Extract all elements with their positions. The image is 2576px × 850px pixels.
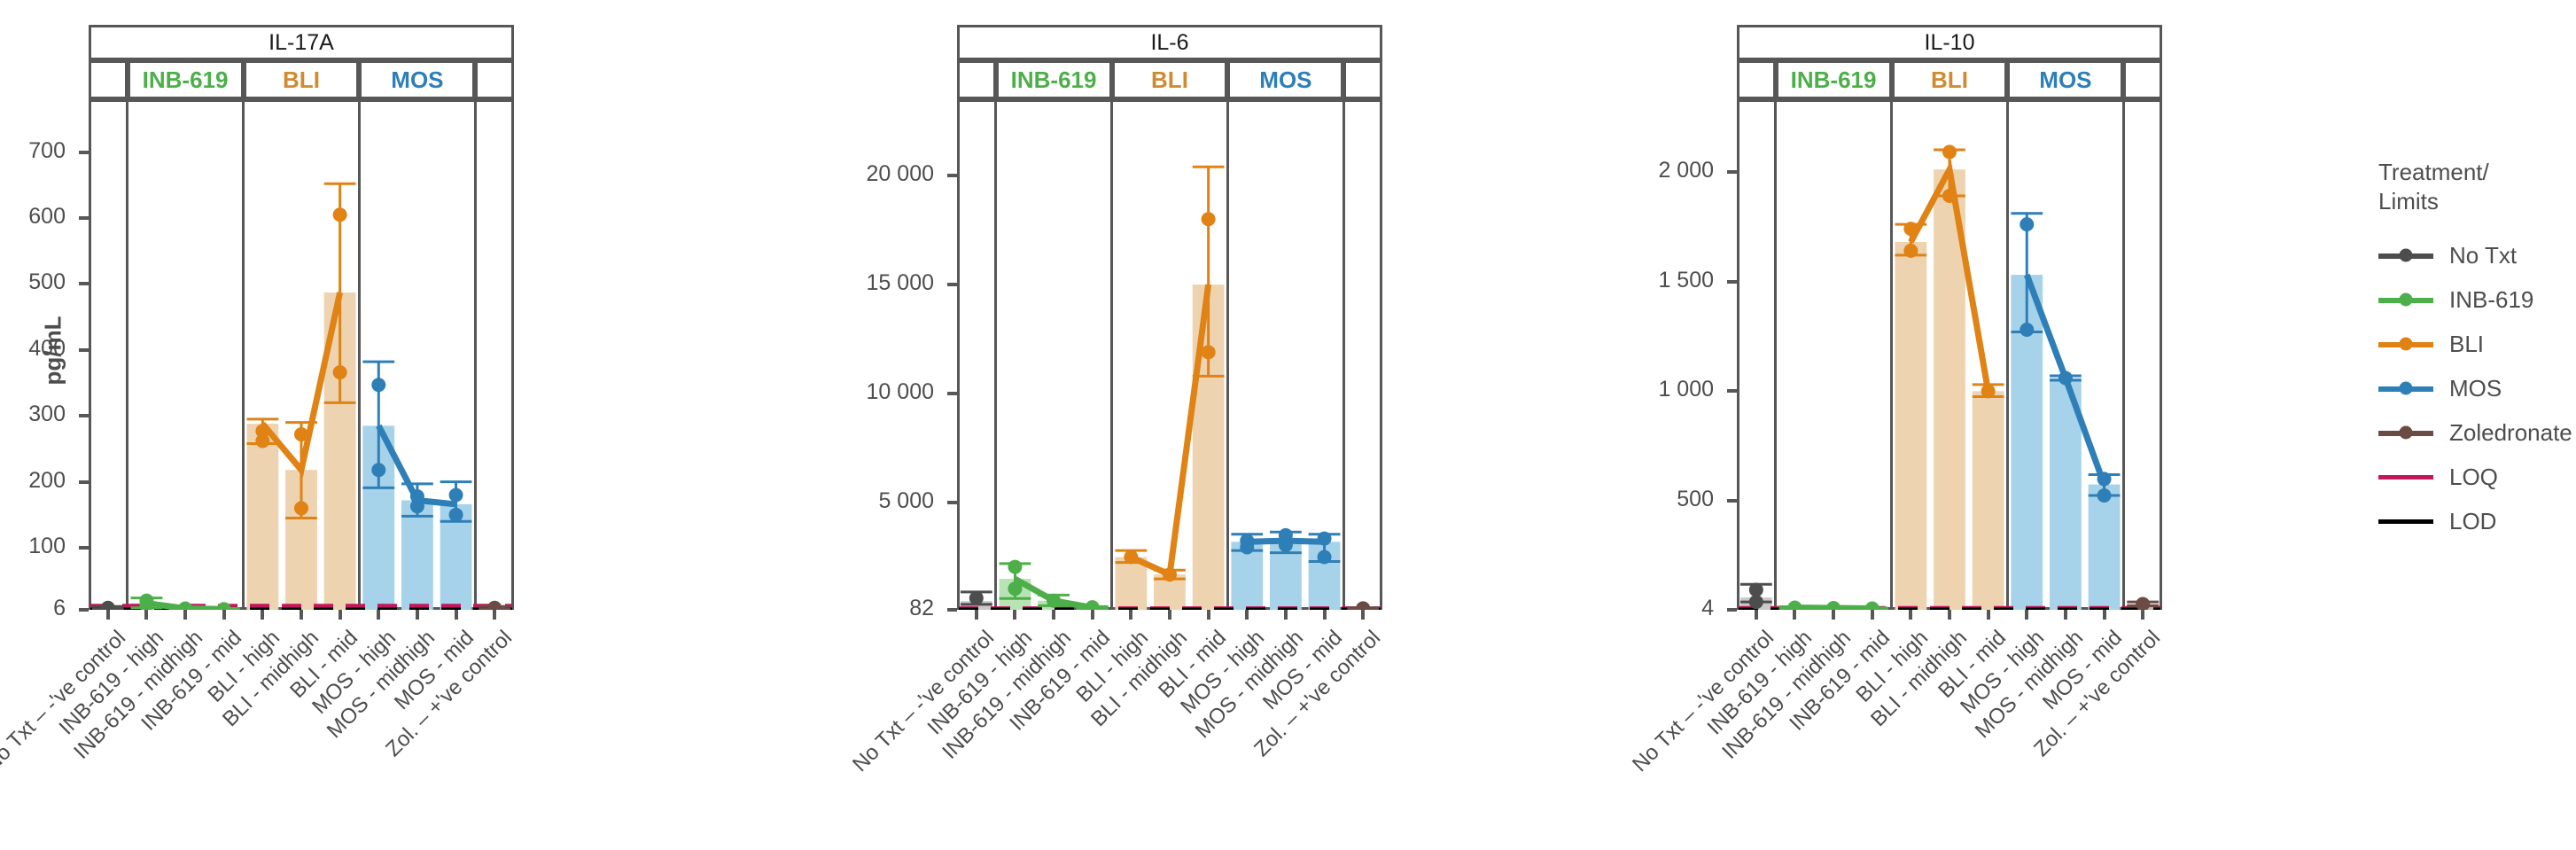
data-point	[1356, 601, 1370, 610]
legend-item-loq[interactable]: LOQ	[2378, 455, 2572, 499]
group-strip-blank	[475, 60, 514, 99]
legend-point-swatch	[2400, 338, 2413, 351]
legend-key-icon	[2378, 279, 2433, 320]
y-tick-label: 1 500	[1519, 268, 1714, 293]
y-tick-mark	[1727, 608, 1737, 612]
data-point	[333, 365, 347, 379]
x-tick-mark	[2141, 610, 2144, 620]
data-point	[1202, 212, 1216, 226]
legend-item-label: LOD	[2449, 508, 2496, 535]
group-strip-blank	[1737, 60, 1776, 99]
legend-point-swatch	[2400, 249, 2413, 262]
x-tick-mark	[1323, 610, 1327, 620]
data-point	[1749, 595, 1763, 609]
data-point	[2097, 472, 2112, 486]
x-tick-mark	[1207, 610, 1210, 620]
group-strip-label: INB-619	[1791, 66, 1877, 94]
group-strip-label: MOS	[391, 66, 443, 94]
x-tick-mark	[416, 610, 419, 620]
data-point	[1047, 594, 1061, 608]
y-tick-mark	[79, 151, 89, 154]
legend-point-swatch	[2400, 293, 2413, 307]
y-tick-label: 600	[0, 204, 66, 230]
y-tick-label: 1 000	[1519, 377, 1714, 402]
group-strip-label: INB-619	[143, 66, 229, 94]
group-strip-mos: MOS	[1227, 60, 1343, 99]
group-strip-inb-619: INB-619	[996, 60, 1112, 99]
y-tick-mark	[79, 414, 89, 417]
legend-key-icon	[2378, 368, 2433, 409]
panel-title-strip: IL-10	[1737, 25, 2162, 60]
data-point	[1202, 345, 1216, 359]
bar	[2089, 485, 2121, 610]
panel-title-strip: IL-6	[957, 25, 1382, 60]
x-tick-mark	[493, 610, 496, 620]
data-point	[1787, 601, 1802, 610]
x-tick-mark	[1091, 610, 1094, 620]
plot-graphics	[1737, 99, 2162, 610]
y-tick-label: 6	[0, 596, 66, 621]
x-tick-mark	[1948, 610, 1951, 620]
bar	[246, 424, 278, 610]
data-point	[449, 508, 463, 522]
y-tick-label: 4	[1519, 596, 1714, 621]
legend-key-icon	[2378, 235, 2433, 276]
group-strip-label: MOS	[1259, 66, 1311, 94]
data-point	[1318, 550, 1332, 565]
legend-key-icon	[2378, 412, 2433, 453]
panel-title: IL-6	[1150, 30, 1188, 56]
y-tick-mark	[947, 392, 957, 395]
legend-key-icon	[2378, 456, 2433, 497]
group-strip-blank	[1343, 60, 1382, 99]
x-tick-mark	[106, 610, 110, 620]
data-point	[178, 602, 192, 610]
data-point	[1008, 581, 1022, 596]
y-tick-label: 2 000	[1519, 158, 1714, 183]
y-tick-label: 15 000	[739, 270, 934, 296]
x-tick-mark	[339, 610, 342, 620]
x-tick-mark	[1871, 610, 1874, 620]
y-tick-mark	[79, 608, 89, 612]
y-tick-label: 500	[1519, 487, 1714, 512]
x-tick-mark	[183, 610, 187, 620]
data-point	[1981, 384, 1996, 398]
y-tick-mark	[79, 216, 89, 220]
x-tick-mark	[1013, 610, 1016, 620]
y-tick-label: 82	[739, 596, 934, 621]
y-tick-mark	[1727, 170, 1737, 174]
data-point	[2136, 597, 2150, 610]
data-point	[1749, 582, 1763, 597]
data-point	[294, 427, 308, 441]
x-tick-mark	[1987, 610, 1990, 620]
legend-item-zoledronate[interactable]: Zoledronate	[2378, 410, 2572, 455]
legend-item-mos[interactable]: MOS	[2378, 366, 2572, 410]
data-point	[2058, 370, 2073, 385]
data-point	[2020, 323, 2034, 337]
x-tick-mark	[300, 610, 303, 620]
x-tick-mark	[377, 610, 380, 620]
data-point	[1903, 244, 1918, 258]
group-strip-label: MOS	[2039, 66, 2091, 94]
data-point	[1124, 550, 1138, 565]
x-tick-mark	[2103, 610, 2106, 620]
legend-point-swatch	[2400, 426, 2413, 440]
legend-point-swatch	[2400, 382, 2413, 395]
data-point	[371, 463, 385, 477]
group-strip-inb-619: INB-619	[1776, 60, 1892, 99]
data-point	[1942, 189, 1957, 203]
data-point	[371, 378, 385, 392]
x-tick-mark	[1245, 610, 1249, 620]
x-tick-mark	[455, 610, 458, 620]
x-tick-mark	[2064, 610, 2067, 620]
data-point	[255, 433, 269, 448]
x-tick-mark	[1168, 610, 1171, 620]
data-point	[1240, 540, 1254, 554]
data-point	[1903, 222, 1918, 236]
y-tick-mark	[947, 174, 957, 177]
x-tick-mark	[1793, 610, 1796, 620]
plot-graphics	[89, 99, 514, 610]
data-point	[1826, 601, 1841, 610]
legend-item-label: LOQ	[2449, 464, 2498, 491]
x-tick-mark	[975, 610, 978, 620]
data-point	[217, 602, 231, 610]
y-tick-label: 100	[0, 534, 66, 559]
y-tick-label: 20 000	[739, 161, 934, 187]
legend-item-lod[interactable]: LOD	[2378, 499, 2572, 543]
group-strip-label: BLI	[283, 66, 320, 94]
group-strip-bli: BLI	[1112, 60, 1228, 99]
data-point	[410, 499, 424, 513]
y-tick-label: 300	[0, 402, 66, 427]
group-strip-label: BLI	[1151, 66, 1188, 94]
y-tick-mark	[1727, 389, 1737, 393]
panel-title: IL-17A	[268, 30, 334, 56]
legend-key-icon	[2378, 501, 2433, 542]
group-strip-mos: MOS	[2007, 60, 2123, 99]
data-point	[101, 601, 115, 610]
x-tick-mark	[1755, 610, 1758, 620]
panel-il-6: IL-6INB-619BLIMOS825 00010 00015 00020 0…	[957, 0, 1382, 822]
y-tick-mark	[79, 480, 89, 484]
x-tick-mark	[1361, 610, 1365, 620]
legend-item-inb-619[interactable]: INB-619	[2378, 277, 2572, 322]
y-tick-mark	[947, 608, 957, 612]
group-strip-bli: BLI	[1892, 60, 2008, 99]
y-tick-mark	[1727, 280, 1737, 284]
legend-item-label: BLI	[2449, 331, 2484, 358]
data-point	[1008, 560, 1022, 574]
y-tick-label: 200	[0, 468, 66, 494]
y-tick-label: 5 000	[739, 488, 934, 514]
y-tick-mark	[79, 282, 89, 285]
x-tick-mark	[144, 610, 148, 620]
data-point	[487, 601, 502, 610]
group-strip-mos: MOS	[359, 60, 475, 99]
figure-root: pg/mL IL-17AINB-619BLIMOS610020030040050…	[0, 0, 2576, 822]
legend-item-bli[interactable]: BLI	[2378, 322, 2572, 366]
panel-title-strip: IL-17A	[89, 25, 514, 60]
panel-il-10: IL-10INB-619BLIMOS45001 0001 5002 000No …	[1737, 0, 2162, 822]
data-point	[1163, 567, 1177, 581]
y-tick-label: 400	[0, 336, 66, 362]
y-tick-mark	[947, 283, 957, 286]
x-tick-mark	[1909, 610, 1912, 620]
data-point	[294, 501, 308, 515]
y-tick-mark	[1727, 499, 1737, 503]
x-tick-mark	[222, 610, 226, 620]
bar	[1973, 391, 2004, 610]
legend-item-label: No Txt	[2449, 242, 2517, 269]
data-point	[2097, 488, 2112, 503]
panel-title: IL-10	[1925, 30, 1975, 56]
group-strip-inb-619: INB-619	[128, 60, 244, 99]
bar	[1895, 242, 1926, 610]
legend-title: Treatment/ Limits	[2378, 158, 2572, 215]
x-tick-mark	[1052, 610, 1055, 620]
y-tick-label: 10 000	[739, 379, 934, 405]
legend-item-no-txt[interactable]: No Txt	[2378, 233, 2572, 277]
legend-key-icon	[2378, 324, 2433, 364]
legend-item-label: INB-619	[2449, 286, 2533, 314]
data-point	[2020, 217, 2034, 231]
legend-item-label: Zoledronate	[2449, 419, 2572, 447]
group-strip-blank	[2123, 60, 2162, 99]
data-point	[969, 591, 984, 605]
data-point	[1865, 602, 1879, 610]
x-tick-mark	[261, 610, 264, 620]
data-point	[1086, 600, 1100, 610]
legend: Treatment/ Limits No TxtINB-619BLIMOSZol…	[2378, 158, 2572, 543]
x-tick-mark	[1832, 610, 1835, 620]
group-strip-label: BLI	[1931, 66, 1968, 94]
data-point	[1318, 532, 1332, 546]
legend-line-swatch	[2378, 475, 2433, 480]
y-tick-label: 500	[0, 269, 66, 295]
plot-graphics	[957, 99, 1382, 610]
x-tick-mark	[1284, 610, 1288, 620]
x-tick-mark	[1129, 610, 1132, 620]
y-tick-mark	[79, 348, 89, 352]
panel-il-17a: IL-17AINB-619BLIMOS610020030040050060070…	[89, 0, 514, 822]
group-strip-bli: BLI	[244, 60, 360, 99]
group-strip-blank	[89, 60, 128, 99]
y-tick-label: 700	[0, 138, 66, 164]
x-tick-mark	[2025, 610, 2028, 620]
data-point	[333, 207, 347, 222]
legend-item-label: MOS	[2449, 375, 2502, 402]
group-strip-label: INB-619	[1011, 66, 1097, 94]
legend-line-swatch	[2378, 519, 2433, 524]
data-point	[1279, 538, 1293, 552]
data-point	[1942, 144, 1957, 159]
group-strip-blank	[957, 60, 996, 99]
data-point	[449, 488, 463, 503]
y-tick-mark	[79, 546, 89, 550]
y-tick-mark	[947, 501, 957, 504]
